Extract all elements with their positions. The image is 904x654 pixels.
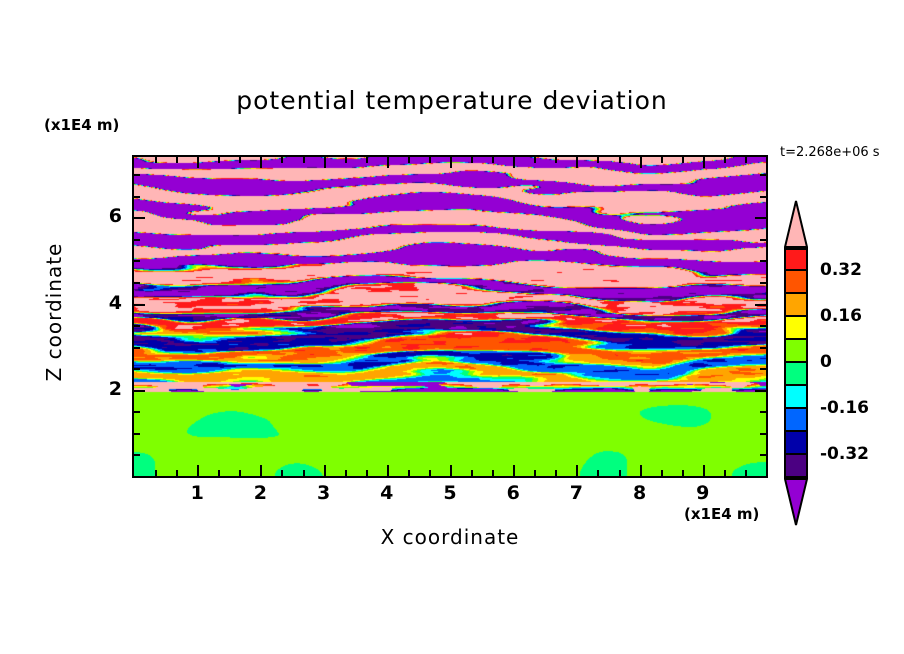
x-tick-label: 7	[561, 482, 591, 504]
tick-mark	[513, 157, 515, 168]
x-tick-label: 9	[688, 482, 718, 504]
tick-mark	[760, 325, 766, 327]
x-tick-label: 1	[182, 482, 212, 504]
colorbar-label: -0.32	[820, 444, 869, 464]
tick-mark	[661, 470, 663, 476]
x-axis-title: X coordinate	[232, 525, 668, 549]
tick-mark	[492, 157, 494, 163]
tick-mark	[134, 368, 140, 370]
tick-mark	[534, 157, 536, 163]
y-tick-label: 6	[92, 205, 122, 227]
tick-mark	[134, 196, 140, 198]
tick-mark	[134, 347, 140, 349]
colorbar-top-arrow-icon	[784, 200, 808, 248]
tick-mark	[134, 282, 140, 284]
tick-mark	[760, 433, 766, 435]
tick-mark	[303, 470, 305, 476]
tick-mark	[724, 157, 726, 163]
tick-mark	[134, 260, 140, 262]
tick-mark	[324, 157, 326, 168]
x-axis-unit-label: (x1E4 m)	[684, 505, 759, 523]
tick-mark	[260, 465, 262, 476]
colorbar-bands	[784, 248, 808, 478]
colorbar-band	[784, 340, 808, 363]
x-tick-label: 8	[625, 482, 655, 504]
colorbar-band	[784, 317, 808, 340]
tick-mark	[134, 304, 145, 306]
tick-mark	[281, 157, 283, 163]
tick-mark	[555, 157, 557, 163]
tick-mark	[134, 411, 140, 413]
tick-mark	[755, 304, 766, 306]
x-tick-label: 5	[435, 482, 465, 504]
colorbar-label: 0.32	[820, 260, 862, 280]
y-axis-unit-label: (x1E4 m)	[44, 116, 119, 134]
tick-mark	[303, 157, 305, 163]
tick-mark	[429, 470, 431, 476]
x-tick-label: 2	[245, 482, 275, 504]
tick-mark	[239, 157, 241, 163]
tick-mark	[260, 157, 262, 168]
page-title: potential temperature deviation	[0, 86, 904, 115]
colorbar-label: 0.16	[820, 306, 862, 326]
tick-mark	[760, 260, 766, 262]
tick-mark	[760, 368, 766, 370]
time-annotation: t=2.268e+06 s	[780, 145, 880, 160]
tick-mark	[239, 470, 241, 476]
tick-mark	[745, 157, 747, 163]
tick-mark	[640, 465, 642, 476]
tick-mark	[197, 157, 199, 168]
tick-mark	[471, 470, 473, 476]
tick-mark	[513, 465, 515, 476]
tick-mark	[176, 470, 178, 476]
colorbar-band	[784, 248, 808, 271]
colorbar: 0.320.160-0.16-0.32	[780, 196, 900, 526]
tick-mark	[724, 470, 726, 476]
tick-mark	[366, 157, 368, 163]
contour-field-canvas	[134, 157, 766, 476]
tick-mark	[745, 470, 747, 476]
tick-mark	[134, 239, 140, 241]
tick-mark	[760, 174, 766, 176]
tick-mark	[619, 157, 621, 163]
tick-mark	[408, 470, 410, 476]
tick-mark	[155, 470, 157, 476]
tick-mark	[134, 433, 140, 435]
tick-mark	[703, 157, 705, 168]
tick-mark	[134, 390, 145, 392]
tick-mark	[134, 217, 145, 219]
tick-mark	[197, 465, 199, 476]
tick-mark	[760, 411, 766, 413]
colorbar-band	[784, 271, 808, 294]
tick-mark	[134, 174, 140, 176]
contour-plot-area	[132, 155, 768, 478]
tick-mark	[450, 157, 452, 168]
tick-mark	[619, 470, 621, 476]
x-tick-label: 3	[309, 482, 339, 504]
tick-mark	[471, 157, 473, 163]
tick-mark	[703, 465, 705, 476]
tick-mark	[218, 470, 220, 476]
tick-mark	[324, 465, 326, 476]
tick-mark	[760, 347, 766, 349]
tick-mark	[492, 470, 494, 476]
tick-mark	[682, 470, 684, 476]
tick-mark	[661, 157, 663, 163]
tick-mark	[682, 157, 684, 163]
x-tick-label: 4	[372, 482, 402, 504]
tick-mark	[760, 282, 766, 284]
tick-mark	[366, 470, 368, 476]
colorbar-band	[784, 409, 808, 432]
tick-mark	[134, 454, 140, 456]
tick-mark	[218, 157, 220, 163]
tick-mark	[597, 157, 599, 163]
tick-mark	[176, 157, 178, 163]
y-axis-title: Z coordinate	[42, 232, 66, 392]
tick-mark	[760, 454, 766, 456]
tick-mark	[387, 465, 389, 476]
tick-mark	[597, 470, 599, 476]
colorbar-label: -0.16	[820, 398, 869, 418]
y-tick-label: 2	[92, 378, 122, 400]
colorbar-band	[784, 294, 808, 317]
tick-mark	[755, 390, 766, 392]
colorbar-label: 0	[820, 352, 832, 372]
x-tick-label: 6	[498, 482, 528, 504]
tick-mark	[345, 470, 347, 476]
tick-mark	[640, 157, 642, 168]
tick-mark	[760, 239, 766, 241]
colorbar-band	[784, 386, 808, 409]
tick-mark	[134, 325, 140, 327]
tick-mark	[760, 196, 766, 198]
colorbar-band	[784, 363, 808, 386]
tick-mark	[576, 157, 578, 168]
tick-mark	[408, 157, 410, 163]
y-tick-label: 4	[92, 292, 122, 314]
colorbar-bottom-arrow-icon	[784, 478, 808, 526]
colorbar-band	[784, 455, 808, 478]
tick-mark	[155, 157, 157, 163]
colorbar-band	[784, 432, 808, 455]
tick-mark	[345, 157, 347, 163]
tick-mark	[555, 470, 557, 476]
tick-mark	[534, 470, 536, 476]
tick-mark	[387, 157, 389, 168]
tick-mark	[429, 157, 431, 163]
tick-mark	[576, 465, 578, 476]
tick-mark	[450, 465, 452, 476]
tick-mark	[755, 217, 766, 219]
tick-mark	[281, 470, 283, 476]
